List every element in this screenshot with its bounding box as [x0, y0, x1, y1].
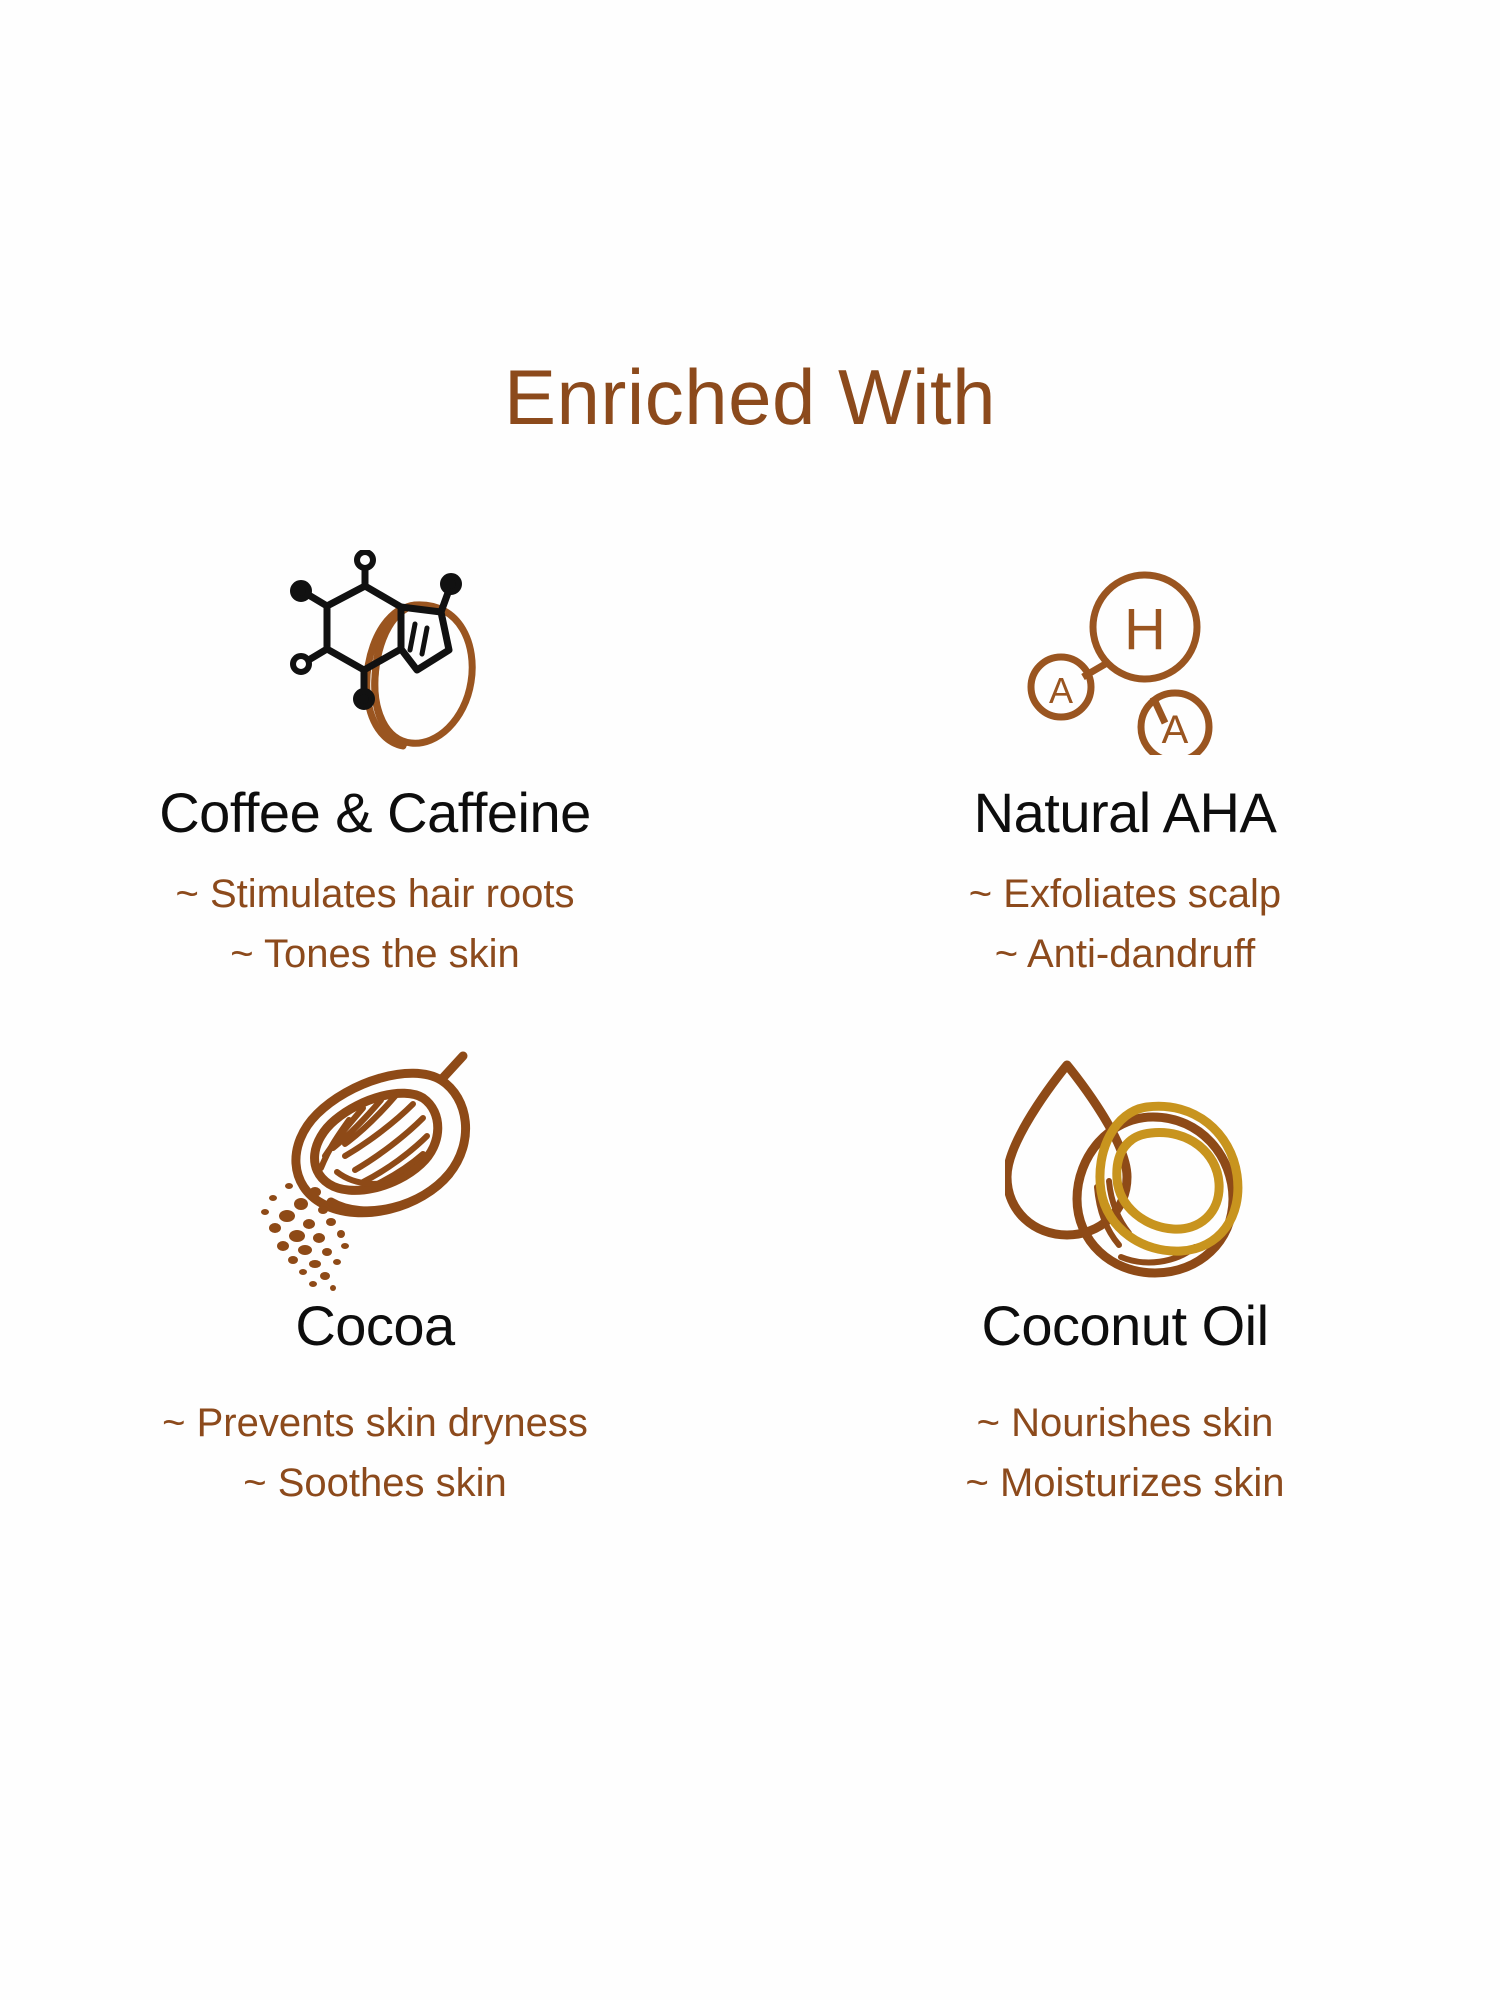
- aha-molecule-icon: H A A: [1025, 555, 1225, 755]
- ingredient-benefits: ~ Nourishes skin ~ Moisturizes skin: [966, 1396, 1285, 1510]
- aha-icon-wrap: H A A: [1025, 540, 1225, 770]
- svg-text:A: A: [1162, 708, 1189, 752]
- ingredient-card-cocoa: Cocoa ~ Prevents skin dryness ~ Soothes …: [0, 1041, 750, 1510]
- ingredient-grid: Coffee & Caffeine ~ Stimulates hair root…: [0, 540, 1500, 1510]
- benefit-item: ~ Stimulates hair roots: [175, 867, 574, 921]
- cocoa-icon-wrap: [245, 1041, 505, 1301]
- enriched-with-infographic: Enriched With: [0, 0, 1500, 2000]
- coffee-bean-caffeine-molecule-icon: [265, 550, 485, 760]
- ingredient-card-coconut-oil: Coconut Oil ~ Nourishes skin ~ Moisturiz…: [750, 1041, 1500, 1510]
- benefit-item: ~ Exfoliates scalp: [969, 867, 1281, 921]
- ingredient-card-natural-aha: H A A Natural AHA ~ Exfoliates scalp ~ A…: [750, 540, 1500, 981]
- svg-text:A: A: [1049, 670, 1073, 711]
- coconut-oil-droplet-icon: [1005, 1051, 1245, 1291]
- ingredient-card-coffee-caffeine: Coffee & Caffeine ~ Stimulates hair root…: [0, 540, 750, 981]
- benefit-item: ~ Nourishes skin: [966, 1396, 1285, 1450]
- ingredient-name: Coconut Oil: [981, 1297, 1268, 1356]
- page-title: Enriched With: [0, 358, 1500, 436]
- benefit-item: ~ Moisturizes skin: [966, 1456, 1285, 1510]
- ingredient-benefits: ~ Stimulates hair roots ~ Tones the skin: [175, 867, 574, 981]
- benefit-item: ~ Anti-dandruff: [969, 927, 1281, 981]
- benefit-item: ~ Tones the skin: [175, 927, 574, 981]
- cocoa-pod-icon: [245, 1046, 505, 1296]
- ingredient-benefits: ~ Prevents skin dryness ~ Soothes skin: [162, 1396, 588, 1510]
- svg-text:H: H: [1124, 597, 1166, 662]
- benefit-item: ~ Soothes skin: [162, 1456, 588, 1510]
- ingredient-name: Cocoa: [295, 1297, 454, 1356]
- ingredient-benefits: ~ Exfoliates scalp ~ Anti-dandruff: [969, 867, 1281, 981]
- benefit-item: ~ Prevents skin dryness: [162, 1396, 588, 1450]
- ingredient-name: Natural AHA: [974, 784, 1277, 843]
- coffee-icon-wrap: [265, 540, 485, 770]
- coconut-icon-wrap: [1005, 1041, 1245, 1301]
- ingredient-name: Coffee & Caffeine: [159, 784, 591, 843]
